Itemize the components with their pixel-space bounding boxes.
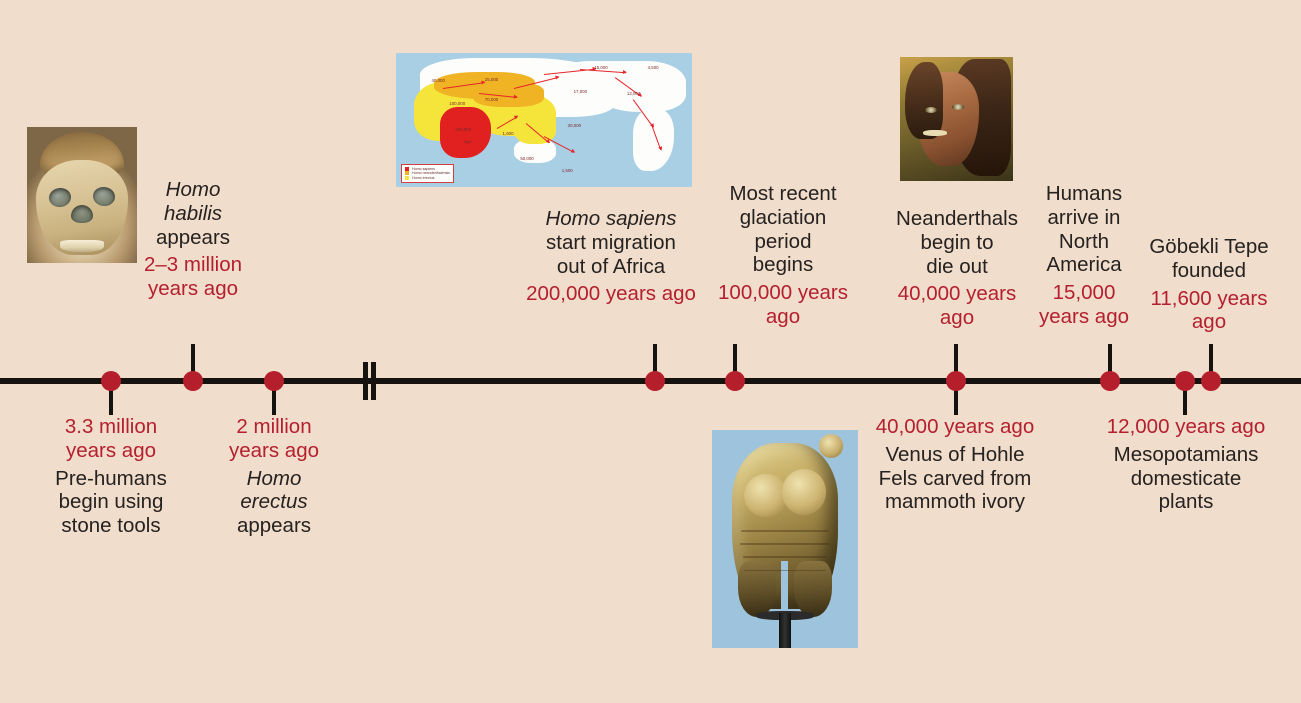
glaciation-line3: period (708, 230, 858, 254)
habilis-years-unit: million (184, 253, 242, 276)
legend-label: Homo erectus (412, 176, 434, 180)
map-route-label: 100,000 (449, 101, 465, 106)
glaciation-line4: begins (708, 253, 858, 277)
glaciation-line1: Most recent (708, 182, 858, 206)
namerica-line1: Humans (1029, 182, 1139, 206)
map-route-label: 17,000 (574, 89, 587, 94)
map-route-label: 1,500 (562, 168, 573, 173)
stonetools-line2: begin using (42, 490, 180, 514)
meso-years-ago: years ago (1175, 415, 1265, 438)
legend-swatch-orange (405, 171, 409, 175)
sapiens-years-value: 200,000 (526, 282, 600, 305)
glaciation-line2: glaciation (708, 206, 858, 230)
timeline-infographic: 40,000 25,000 70,000 100,000 15,000 4,50… (0, 0, 1301, 703)
habilis-line1: Homo (128, 178, 258, 202)
map-route-label: 4,500 (648, 65, 659, 70)
gobekli-years-value: 11,600 (1150, 287, 1211, 310)
erectus-line3: appears (210, 514, 338, 538)
timeline-node-mesopotamia[interactable] (1175, 371, 1195, 391)
label-homo-habilis: Homo habilis appears 2–3 million years a… (128, 178, 258, 301)
habilis-years-value: 2–3 (144, 253, 178, 276)
erectus-line1: Homo (210, 467, 338, 491)
namerica-years-ago: years ago (1039, 305, 1129, 328)
habilis-line2: habilis (128, 202, 258, 226)
venus-line1: Venus of Hohle (869, 443, 1041, 467)
namerica-years-value: 15,000 (1053, 281, 1116, 304)
label-venus-hohle-fels: 40,000 years ago Venus of Hohle Fels car… (869, 415, 1041, 514)
erectus-years-ago: years ago (229, 439, 319, 462)
neanderthal-line3: die out (882, 255, 1032, 279)
neanderthal-reconstruction-photo (900, 57, 1013, 181)
sapiens-years-ago: years ago (606, 282, 696, 305)
label-stone-tools: 3.3 million years ago Pre-humans begin u… (42, 415, 180, 538)
label-out-of-africa: Homo sapiens start migration out of Afri… (521, 207, 701, 306)
gobekli-line1: Göbekli Tepe (1133, 235, 1285, 259)
timeline-node-gobekli-tepe[interactable] (1201, 371, 1221, 391)
erectus-line2: erectus (210, 490, 338, 514)
timeline-node-out-of-africa[interactable] (645, 371, 665, 391)
map-route-label: ago (464, 139, 471, 144)
sapiens-line2: start migration (521, 231, 701, 255)
timeline-node-north-america[interactable] (1100, 371, 1120, 391)
namerica-line3: North (1029, 230, 1139, 254)
label-glaciation: Most recent glaciation period begins 100… (708, 182, 858, 329)
venus-line2: Fels carved from (869, 467, 1041, 491)
homo-habilis-skull-photo (27, 127, 137, 263)
label-homo-erectus: 2 million years ago Homo erectus appears (210, 415, 338, 538)
map-route-label: 200,000 (455, 127, 471, 132)
timeline-node-glaciation[interactable] (725, 371, 745, 391)
timeline-node-stone-tools[interactable] (101, 371, 121, 391)
label-neanderthals-die-out: Neanderthals begin to die out 40,000 yea… (882, 207, 1032, 330)
map-route-label: 50,000 (520, 156, 533, 161)
axis-break-mark (371, 362, 376, 400)
neanderthal-line1: Neanderthals (882, 207, 1032, 231)
erectus-years-unit: million (254, 415, 312, 438)
stonetools-years-value: 3.3 (65, 415, 94, 438)
map-route-label: 25,000 (485, 77, 498, 82)
legend-item-homo-erectus: Homo erectus (405, 176, 450, 180)
stonetools-line3: stone tools (42, 514, 180, 538)
axis-break-mark (363, 362, 368, 400)
erectus-years-value: 2 (236, 415, 247, 438)
venus-years-value: 40,000 (876, 415, 939, 438)
namerica-line4: America (1029, 253, 1139, 277)
habilis-line3: appears (128, 226, 258, 250)
stonetools-years-ago: years ago (66, 439, 156, 462)
timeline-node-homo-habilis[interactable] (183, 371, 203, 391)
timeline-node-homo-erectus[interactable] (264, 371, 284, 391)
venus-line3: mammoth ivory (869, 490, 1041, 514)
neanderthal-line2: begin to (882, 231, 1032, 255)
neanderthal-years-value: 40,000 (898, 282, 961, 305)
meso-line2: domesticate (1100, 467, 1272, 491)
map-route-label: 1,600 (503, 131, 514, 136)
venus-of-hohle-fels-photo (712, 430, 858, 648)
namerica-line2: arrive in (1029, 206, 1139, 230)
map-route-label: 15,000 (594, 65, 607, 70)
venus-years-ago: years ago (944, 415, 1034, 438)
map-route-label: 40,000 (432, 78, 445, 83)
map-route-label: 30,000 (568, 123, 581, 128)
meso-years-value: 12,000 (1107, 415, 1170, 438)
glaciation-years-value: 100,000 (718, 281, 792, 304)
label-north-america: Humans arrive in North America 15,000 ye… (1029, 182, 1139, 329)
sapiens-line1: Homo sapiens (521, 207, 701, 231)
gobekli-line2: founded (1133, 259, 1285, 283)
legend-swatch-yellow (405, 176, 409, 180)
label-gobekli-tepe: Göbekli Tepe founded 11,600 years ago (1133, 235, 1285, 334)
stonetools-line1: Pre-humans (42, 467, 180, 491)
map-route-label: 12,000 (627, 91, 640, 96)
meso-line1: Mesopotamians (1100, 443, 1272, 467)
map-route-label: 70,000 (485, 97, 498, 102)
sapiens-line3: out of Africa (521, 255, 701, 279)
map-legend: Homo sapiens Homo neanderthalensis Homo … (401, 164, 454, 183)
human-migration-map: 40,000 25,000 70,000 100,000 15,000 4,50… (396, 53, 692, 187)
stonetools-years-unit: million (99, 415, 157, 438)
label-mesopotamia: 12,000 years ago Mesopotamians domestica… (1100, 415, 1272, 514)
meso-line3: plants (1100, 490, 1272, 514)
timeline-node-neanderthals[interactable] (946, 371, 966, 391)
legend-swatch-red (405, 167, 409, 171)
habilis-years-ago: years ago (148, 277, 238, 300)
